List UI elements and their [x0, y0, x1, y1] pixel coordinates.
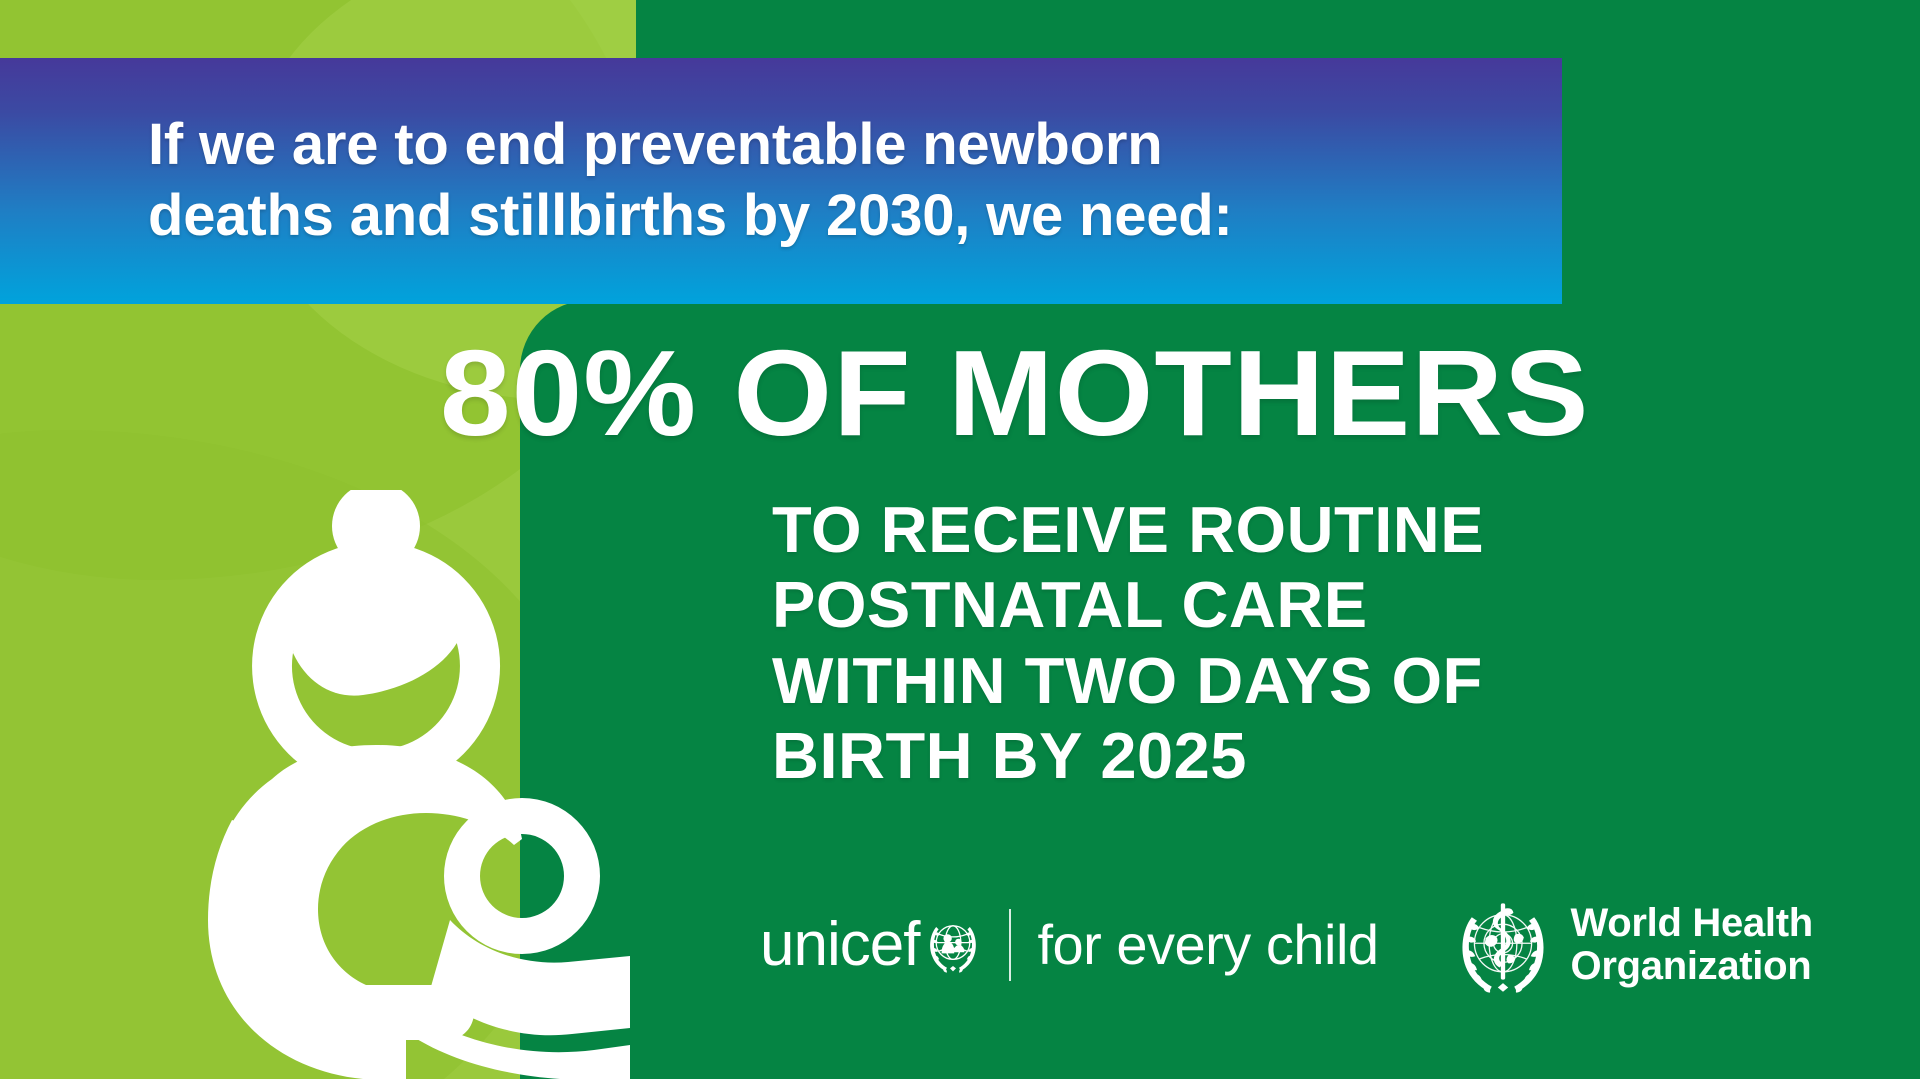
who-logo: World Health Organization [1451, 893, 1813, 997]
banner-line-1: If we are to end preventable newborn [148, 110, 1233, 181]
subheading-line-1: TO RECEIVE ROUTINE [772, 492, 1732, 567]
subheading-block: TO RECEIVE ROUTINE POSTNATAL CARE WITHIN… [772, 492, 1732, 794]
who-rod-of-asclepius-emblem [1451, 893, 1555, 997]
headline-banner: If we are to end preventable newborn dea… [0, 58, 1562, 304]
logo-strip: unicef [760, 880, 1820, 1010]
subheading-line-2: POSTNATAL CARE [772, 567, 1732, 642]
who-organization-name: World Health Organization [1571, 902, 1813, 988]
unicef-tagline: for every child [1037, 917, 1378, 973]
unicef-globe-emblem [923, 915, 983, 975]
unicef-wordmark: unicef [760, 914, 919, 976]
who-name-line-1: World Health [1571, 902, 1813, 945]
mother-breastfeeding-baby-icon [150, 490, 630, 1079]
banner-text-block: If we are to end preventable newborn dea… [0, 110, 1273, 252]
logo-divider [1009, 909, 1011, 981]
banner-line-2: deaths and stillbirths by 2030, we need: [148, 181, 1233, 252]
unicef-logo: unicef [760, 914, 983, 976]
subheading-line-3: WITHIN TWO DAYS OF [772, 643, 1732, 718]
statistic-headline: 80% OF MOTHERS [440, 332, 1813, 454]
subheading-line-4: BIRTH BY 2025 [772, 718, 1732, 793]
who-name-line-2: Organization [1571, 945, 1813, 988]
infographic-poster: If we are to end preventable newborn dea… [0, 0, 1920, 1079]
